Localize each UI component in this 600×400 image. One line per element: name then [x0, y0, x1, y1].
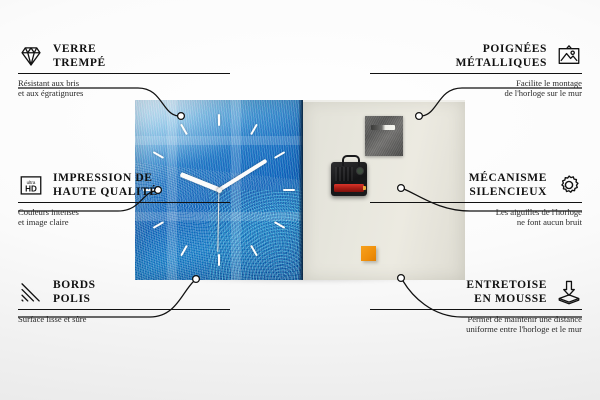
feature-subtitle-line1: Couleurs intenses — [18, 207, 230, 217]
metal-handle-texture — [365, 116, 403, 156]
feature-rule — [18, 73, 230, 74]
mechanism-hanging-loop — [342, 155, 360, 166]
feature-subtitle-line1: Permet de maintenir une distance — [370, 314, 582, 324]
feature-title: VERRE TREMPÉ — [53, 42, 106, 70]
feature-subtitle-line1: Résistant aux bris — [18, 78, 230, 88]
feature-rule — [370, 309, 582, 310]
feature-subtitle-line2: uniforme entre l'horloge et le mur — [370, 324, 582, 334]
metal-handle — [365, 116, 403, 156]
feature-title: BORDS POLIS — [53, 278, 96, 306]
feature-title: POIGNÉES MÉTALLIQUES — [456, 42, 547, 70]
feature-subtitle-line2: ne font aucun bruit — [370, 217, 582, 227]
feature-subtitle-line1: Surface lisse et sûre — [18, 314, 230, 324]
svg-text:HD: HD — [25, 185, 37, 194]
infographic-canvas: VERRE TREMPÉ Résistant aux bris et aux é… — [0, 0, 600, 400]
feature-rule — [370, 202, 582, 203]
feature-rule — [18, 202, 230, 203]
foam-spacer — [361, 246, 376, 261]
gear-icon — [556, 172, 582, 198]
feature-impression-haute-qualite: ultra HD IMPRESSION DE HAUTE QUALITÉ Cou… — [18, 171, 230, 228]
feature-rule — [370, 73, 582, 74]
feature-header: BORDS POLIS — [18, 278, 230, 306]
feature-header: MÉCANISME SILENCIEUX — [370, 171, 582, 199]
feature-header: ultra HD IMPRESSION DE HAUTE QUALITÉ — [18, 171, 230, 199]
polished-edge-icon — [18, 279, 44, 305]
feature-title: MÉCANISME SILENCIEUX — [469, 171, 547, 199]
feature-header: VERRE TREMPÉ — [18, 42, 230, 70]
feature-subtitle-line1: Les aiguilles de l'horloge — [370, 207, 582, 217]
feature-entretoise-en-mousse: ENTRETOISE EN MOUSSE Permet de maintenir… — [370, 278, 582, 335]
back-panel-edge — [303, 100, 465, 102]
clock-mechanism — [331, 162, 367, 196]
feature-bords-polis: BORDS POLIS Surface lisse et sûre — [18, 278, 230, 324]
feature-poignees-metalliques: POIGNÉES MÉTALLIQUES Facilite le montage… — [370, 42, 582, 99]
feature-subtitle-line2: et image claire — [18, 217, 230, 227]
feature-subtitle-line1: Facilite le montage — [370, 78, 582, 88]
feature-mecanisme-silencieux: MÉCANISME SILENCIEUX Les aiguilles de l'… — [370, 171, 582, 228]
feature-title: IMPRESSION DE HAUTE QUALITÉ — [53, 171, 158, 199]
feature-title: ENTRETOISE EN MOUSSE — [466, 278, 547, 306]
foam-spacer-arrow-icon — [556, 279, 582, 305]
feature-verre-trempe: VERRE TREMPÉ Résistant aux bris et aux é… — [18, 42, 230, 99]
feature-header: ENTRETOISE EN MOUSSE — [370, 278, 582, 306]
feature-subtitle-line2: de l'horloge sur le mur — [370, 88, 582, 98]
metal-handle-slot — [371, 125, 395, 130]
mechanism-ribbing — [335, 167, 353, 181]
battery — [334, 184, 364, 192]
feature-subtitle-line2: et aux égratignures — [18, 88, 230, 98]
feature-header: POIGNÉES MÉTALLIQUES — [370, 42, 582, 70]
picture-frame-hanger-icon — [556, 43, 582, 69]
diamond-icon — [18, 43, 44, 69]
ultra-hd-icon: ultra HD — [18, 172, 44, 198]
mechanism-dial — [357, 168, 363, 174]
feature-rule — [18, 309, 230, 310]
